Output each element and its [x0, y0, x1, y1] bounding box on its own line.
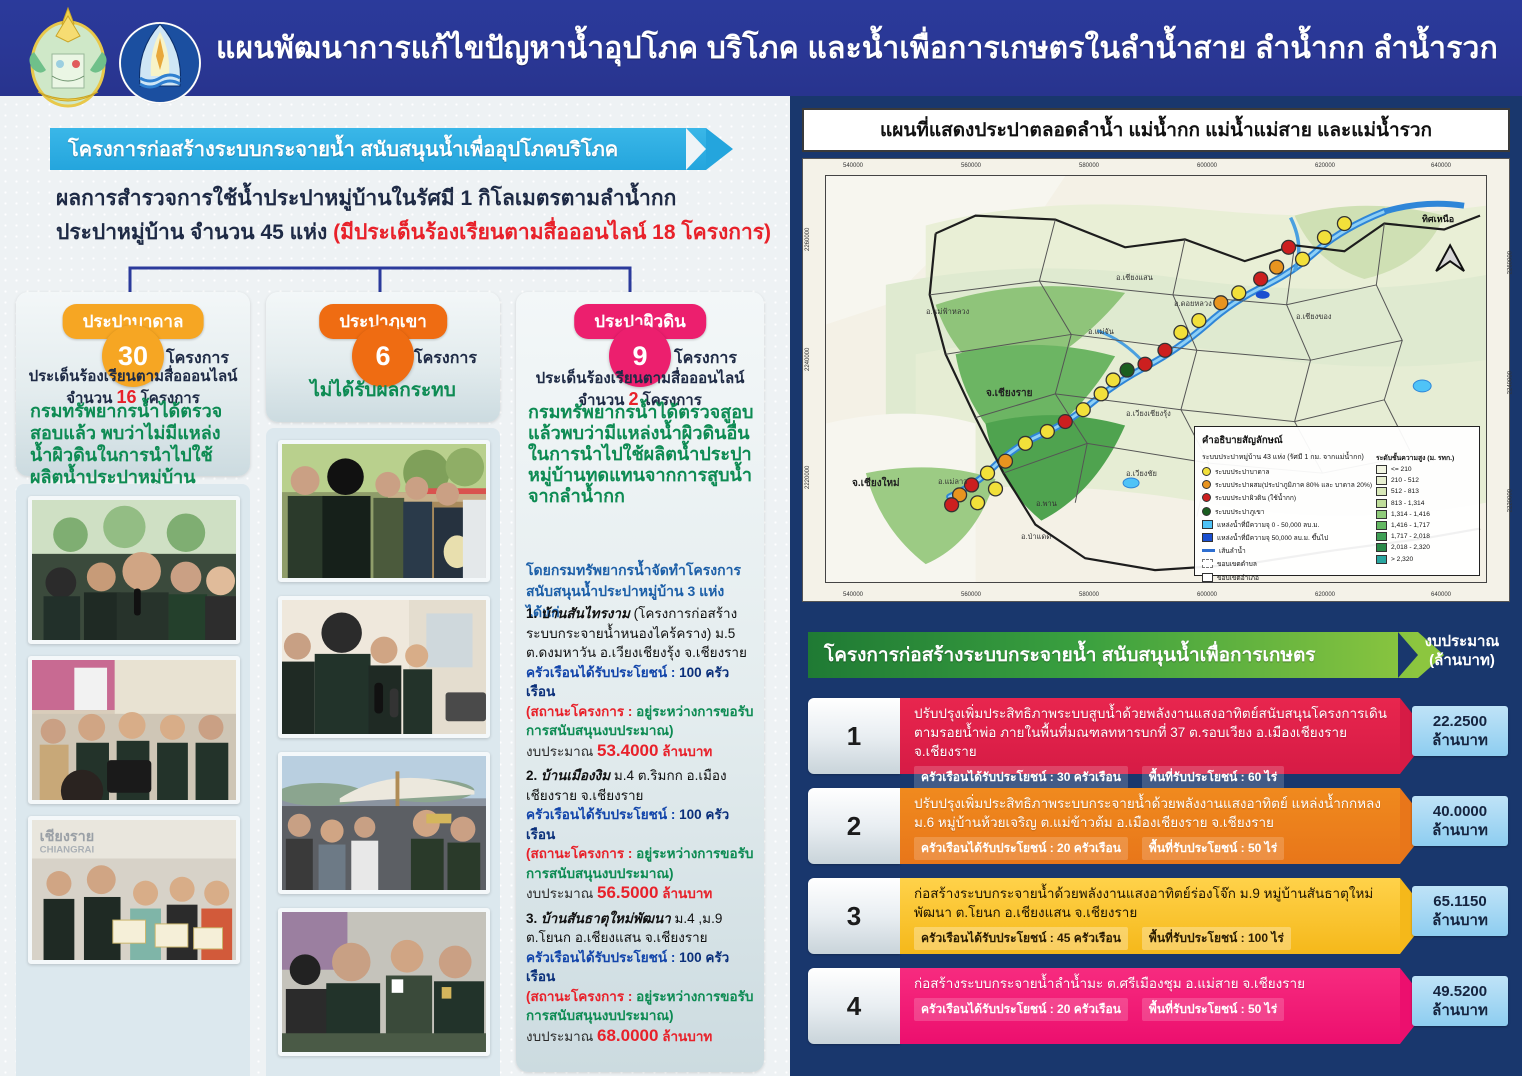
photo-outdoor-tent-crowd — [278, 752, 490, 894]
elevation-swatch-icon — [1376, 543, 1387, 552]
elevation-label: 813 - 1,314 — [1391, 500, 1424, 507]
project-2-households: ครัวเรือนได้รับประโยชน์ : 100 ครัวเรือน — [526, 805, 758, 844]
legend-elevation-item: <= 210 — [1376, 465, 1472, 474]
legend-elevation-item: 813 - 1,314 — [1376, 499, 1472, 508]
budget-column-header-line2: (ล้านบาท) — [1429, 652, 1495, 669]
legend-item: ระบบประปาผิวดิน (ใช้น้ำกก) — [1202, 492, 1370, 503]
agriculture-project-row[interactable]: 4 ก่อสร้างระบบกระจายน้ำลำน้ำมะ ต.ศรีเมือ… — [808, 964, 1508, 1048]
legend-item: ระบบประปาผสม(ประปาภูมิภาค 80% และ บาดาล … — [1202, 479, 1370, 490]
elevation-label: 1,717 - 2,018 — [1391, 533, 1430, 540]
legend-elevation-item: 210 - 512 — [1376, 476, 1472, 485]
row-2-number: 2 — [808, 788, 900, 864]
row-1-budget-value: 22.2500 — [1433, 713, 1487, 730]
survey-result-line-2: ประปาหมู่บ้าน จำนวน 45 แห่ง (มีประเด็นร้… — [56, 216, 771, 249]
map-y-tick: 2260000 — [805, 228, 811, 251]
card-2-count-circle: 6 — [352, 325, 414, 387]
elevation-label: 210 - 512 — [1391, 477, 1419, 484]
survey-complaint-text: (มีประเด็นร้องเรียนตามสื่อออนไลน์ 18 โคร… — [333, 221, 771, 244]
map-place-label: จ.เชียงใหม่ — [852, 476, 900, 491]
legend-item-label: แหล่งน้ำที่มีความจุ 0 - 50,000 ลบ.ม. — [1217, 519, 1319, 530]
row-2-budget: 40.0000 ล้านบาท — [1412, 796, 1508, 846]
row-1-description: ปรับปรุงเพิ่มประสิทธิภาพระบบสูบน้ำด้วยพล… — [914, 704, 1390, 761]
elevation-swatch-icon — [1376, 555, 1387, 564]
elevation-swatch-icon — [1376, 487, 1387, 496]
project-2-number: 2. — [526, 768, 537, 783]
compass-north-label: ทิศเหนือ — [1422, 212, 1454, 226]
map-title: แผนที่แสดงประปาตลอดลำน้ำ แม่น้ำกก แม่น้ำ… — [880, 115, 1432, 145]
legend-elevation-item: 1,717 - 2,018 — [1376, 532, 1472, 541]
map-x-tick: 600000 — [1197, 592, 1217, 598]
map-place-label: อ.เชียงของ — [1296, 311, 1332, 323]
card-3-complaint-line1: ประเด็นร้องเรียนตามสื่อออนไลน์ — [536, 370, 745, 387]
row-4-budget: 49.5200 ล้านบาท — [1412, 976, 1508, 1026]
row-4-number: 4 — [808, 968, 900, 1044]
svg-text:เชียงราย: เชียงราย — [40, 828, 95, 845]
map-place-label: อ.แม่ลาว — [938, 476, 967, 488]
elevation-swatch-icon — [1376, 532, 1387, 541]
legend-item: ขอบเขตตำบล — [1202, 558, 1370, 569]
legend-elevation-item: 1,416 - 1,717 — [1376, 521, 1472, 530]
elevation-swatch-icon — [1376, 499, 1387, 508]
card-3-project-list: 1. บ้านสันไทรงาม (โครงการก่อสร้างระบบกระ… — [526, 604, 758, 1051]
project-3-number: 3. — [526, 911, 537, 926]
map-y-tick: 2220000 — [1507, 489, 1513, 512]
map-x-tick: 600000 — [1197, 163, 1217, 169]
map-y-tick: 2240000 — [1507, 371, 1513, 394]
map-title-box: แผนที่แสดงประปาตลอดลำน้ำ แม่น้ำกก แม่น้ำ… — [802, 108, 1510, 152]
row-3-body: ก่อสร้างระบบกระจายน้ำด้วยพลังงานแสงอาทิต… — [900, 878, 1400, 954]
legend-item: แหล่งน้ำที่มีความจุ 50,000 ลบ.ม. ขึ้นไป — [1202, 532, 1370, 543]
agriculture-panel: โครงการก่อสร้างระบบกระจายน้ำ สนับสนุนน้ำ… — [790, 616, 1522, 1076]
row-1-budget-unit: ล้านบาท — [1432, 732, 1488, 749]
photo-officials-seated-meeting — [278, 908, 490, 1056]
elevation-label: 2,018 - 2,320 — [1391, 544, 1430, 551]
legend-item-label: ระบบประปาภูเขา — [1215, 506, 1264, 517]
legend-title: คำอธิบายสัญลักษณ์ — [1202, 433, 1472, 448]
project-2-status-label: (สถานะโครงการ : — [526, 846, 636, 861]
row-2-stats: ครัวเรือนได้รับประโยชน์ : 20 ครัวเรือน พ… — [914, 837, 1390, 860]
row-3-stats: ครัวเรือนได้รับประโยชน์ : 45 ครัวเรือน พ… — [914, 927, 1390, 950]
row-3-households: ครัวเรือนได้รับประโยชน์ : 45 ครัวเรือน — [914, 927, 1128, 950]
project-list-item: 1. บ้านสันไทรงาม (โครงการก่อสร้างระบบกระ… — [526, 604, 758, 761]
row-2-body: ปรับปรุงเพิ่มประสิทธิภาพระบบกระจายน้ำด้ว… — [900, 788, 1400, 864]
project-3-households: ครัวเรือนได้รับประโยชน์ : 100 ครัวเรือน — [526, 948, 758, 987]
legend-item-label: ระบบประปาผิวดิน (ใช้น้ำกก) — [1215, 492, 1296, 503]
card-1-complaint-line1: ประเด็นร้องเรียนตามสื่อออนไลน์ — [29, 368, 238, 385]
agriculture-project-row[interactable]: 3 ก่อสร้างระบบกระจายน้ำด้วยพลังงานแสงอาท… — [808, 874, 1508, 958]
map-x-tick: 580000 — [1079, 592, 1099, 598]
row-4-budget-value: 49.5200 — [1433, 983, 1487, 1000]
survey-count-text: ประปาหมู่บ้าน จำนวน 45 แห่ง — [56, 221, 333, 244]
row-2-households: ครัวเรือนได้รับประโยชน์ : 20 ครัวเรือน — [914, 837, 1128, 860]
legend-item-label: ระบบประปาบาดาล — [1215, 466, 1270, 477]
svg-text:CHIANGRAI: CHIANGRAI — [40, 845, 95, 856]
map-place-label: อ.เวียงเชียงรุ้ง — [1126, 408, 1171, 420]
elevation-swatch-icon — [1376, 465, 1387, 474]
legend-elevation-item: 2,018 - 2,320 — [1376, 543, 1472, 552]
card-mountain-supply: ประปาภูเขา 6 โครงการ ไม่ได้รับผลกระทบ — [266, 292, 500, 422]
elevation-swatch-icon — [1376, 510, 1387, 519]
agriculture-header-notch — [1398, 632, 1418, 678]
map-x-tick: 640000 — [1431, 163, 1451, 169]
legend-item-label: ขอบเขตอำเภอ — [1217, 572, 1259, 583]
project-1-households: ครัวเรือนได้รับประโยชน์ : 100 ครัวเรือน — [526, 663, 758, 702]
photo-water-sample-riverside — [278, 440, 490, 582]
map-x-tick: 620000 — [1315, 163, 1335, 169]
legend-surface-water-dot-icon — [1202, 493, 1211, 502]
project-2-households-label: ครัวเรือนได้รับประโยชน์ : — [526, 807, 679, 822]
photo-press-conference-group — [28, 656, 240, 804]
legend-elevation-column: ระดับชั้นความสูง (ม. รทก.) <= 210 210 - … — [1376, 452, 1472, 583]
project-3-status-label: (สถานะโครงการ : — [526, 989, 636, 1004]
card-2-count-unit: โครงการ — [414, 346, 477, 371]
project-1-households-label: ครัวเรือนได้รับประโยชน์ : — [526, 665, 679, 680]
legend-elevation-item: 512 - 813 — [1376, 487, 1472, 496]
project-1-status-label: (สถานะโครงการ : — [526, 704, 636, 719]
row-1-number: 1 — [808, 698, 900, 774]
page-header: แผนพัฒนาการแก้ไขปัญหาน้ำอุปโภค บริโภค แล… — [0, 0, 1522, 96]
row-4-budget-unit: ล้านบาท — [1432, 1002, 1488, 1019]
map-x-tick: 540000 — [843, 163, 863, 169]
row-1-budget: 22.2500 ล้านบาท — [1412, 706, 1508, 756]
project-3-name: บ้านสันธาตุใหม่พัฒนา — [541, 911, 671, 926]
legend-item-label: แหล่งน้ำที่มีความจุ 50,000 ลบ.ม. ขึ้นไป — [1217, 532, 1328, 543]
row-3-budget: 65.1150 ล้านบาท — [1412, 886, 1508, 936]
elevation-swatch-icon — [1376, 521, 1387, 530]
project-2-budget-value: 56.5000 — [597, 883, 658, 902]
row-1-body: ปรับปรุงเพิ่มประสิทธิภาพระบบสูบน้ำด้วยพล… — [900, 698, 1400, 774]
agriculture-project-row[interactable]: 2 ปรับปรุงเพิ่มประสิทธิภาพระบบกระจายน้ำด… — [808, 784, 1508, 868]
project-3-budget-value: 68.0000 — [597, 1026, 658, 1045]
map-place-label: จ.เชียงราย — [986, 386, 1032, 401]
project-3-budget-unit: ล้านบาท — [658, 1029, 712, 1044]
map-place-label: อ.พาน — [1036, 498, 1057, 510]
row-3-number: 3 — [808, 878, 900, 954]
project-1-status: (สถานะโครงการ : อยู่ระหว่างการขอรับการสน… — [526, 702, 758, 741]
row-3-description: ก่อสร้างระบบกระจายน้ำด้วยพลังงานแสงอาทิต… — [914, 884, 1390, 922]
project-3-status: (สถานะโครงการ : อยู่ระหว่างการขอรับการสน… — [526, 987, 758, 1026]
project-1-budget-unit: ล้านบาท — [658, 744, 712, 759]
elevation-label: 1,416 - 1,717 — [1391, 522, 1430, 529]
page-title: แผนพัฒนาการแก้ไขปัญหาน้ำอุปโภค บริโภค แล… — [216, 30, 1496, 68]
project-1-budget-value: 53.4000 — [597, 741, 658, 760]
photo-certificate-handover-chiangrai: เชียงราย CHIANGRAI — [28, 816, 240, 964]
legend-item: แหล่งน้ำที่มีความจุ 0 - 50,000 ลบ.ม. — [1202, 519, 1370, 530]
row-4-area: พื้นที่รับประโยชน์ : 50 ไร่ — [1142, 998, 1284, 1021]
card-1-finding-note: กรมทรัพยากรน้ำได้ตรวจสอบแล้ว พบว่าไม่มีแ… — [30, 400, 242, 488]
row-4-households: ครัวเรือนได้รับประโยชน์ : 20 ครัวเรือน — [914, 998, 1128, 1021]
map-place-label: อ.แม่จัน — [1088, 326, 1114, 338]
legend-elevation-item: > 2,320 — [1376, 555, 1472, 564]
project-3-budget: งบประมาณ 68.0000 ล้านบาท — [526, 1026, 758, 1047]
map-y-tick: 2240000 — [805, 348, 811, 371]
card-2-finding-note: ไม่ได้รับผลกระทบ — [266, 380, 500, 402]
project-1-name: บ้านสันไทรงาม — [541, 606, 630, 621]
legend-elevation-title: ระดับชั้นความสูง (ม. รทก.) — [1376, 452, 1472, 463]
domestic-water-section-ribbon: โครงการก่อสร้างระบบกระจายน้ำ สนับสนุนน้ำ… — [50, 128, 706, 170]
map-frame[interactable]: 540000 560000 580000 600000 620000 64000… — [802, 158, 1510, 602]
legend-item-label: ระบบประปาผสม(ประปาภูมิภาค 80% และ บาดาล … — [1215, 479, 1372, 490]
department-of-water-resources-emblem-icon — [118, 14, 202, 112]
legend-district-boundary-icon — [1202, 573, 1213, 582]
project-2-budget: งบประมาณ 56.5000 ล้านบาท — [526, 883, 758, 904]
legend-groundwater-dot-icon — [1202, 467, 1211, 476]
map-y-tick: 2220000 — [805, 466, 811, 489]
map-x-tick: 640000 — [1431, 592, 1451, 598]
legend-item: ระบบประปาบาดาล — [1202, 466, 1370, 477]
elevation-swatch-icon — [1376, 476, 1387, 485]
row-4-body: ก่อสร้างระบบกระจายน้ำลำน้ำมะ ต.ศรีเมืองช… — [900, 968, 1400, 1044]
project-2-budget-label: งบประมาณ — [526, 886, 597, 901]
project-2-budget-unit: ล้านบาท — [658, 886, 712, 901]
map-place-label: อ.ป่าแดด — [1021, 531, 1051, 543]
legend-subtitle: ระบบประปาหมู่บ้าน 43 แห่ง (รัศมี 1 กม. จ… — [1202, 452, 1370, 463]
elevation-label: 512 - 813 — [1391, 488, 1419, 495]
map-x-tick: 540000 — [843, 592, 863, 598]
legend-subdistrict-boundary-icon — [1202, 559, 1213, 568]
agriculture-project-row[interactable]: 1 ปรับปรุงเพิ่มประสิทธิภาพระบบสูบน้ำด้วย… — [808, 694, 1508, 778]
row-2-budget-unit: ล้านบาท — [1432, 822, 1488, 839]
row-3-budget-value: 65.1150 — [1433, 893, 1486, 910]
row-3-area: พื้นที่รับประโยชน์ : 100 ไร่ — [1142, 927, 1291, 950]
project-2-name: บ้านเมืองงิม — [541, 768, 610, 783]
map-legend: คำอธิบายสัญลักษณ์ ระบบประปาหมู่บ้าน 43 แ… — [1194, 426, 1480, 576]
card-groundwater-supply: ประปาบาดาล 30 โครงการ ประเด็นร้องเรียนตา… — [16, 292, 250, 476]
elevation-label: <= 210 — [1391, 466, 1412, 473]
legend-river-line-icon — [1202, 549, 1215, 552]
budget-column-header: งบประมาณ (ล้านบาท) — [1416, 632, 1508, 670]
agriculture-section-label: โครงการก่อสร้างระบบกระจายน้ำ สนับสนุนน้ำ… — [808, 640, 1316, 670]
map-panel: แผนที่แสดงประปาตลอดลำน้ำ แม่น้ำกก แม่น้ำ… — [790, 96, 1522, 616]
garuda-royal-emblem-icon — [22, 2, 114, 114]
legend-item-label: ขอบเขตตำบล — [1217, 558, 1257, 569]
card-surface-water-supply: ประปาผิวดิน 9 โครงการ ประเด็นร้องเรียนตา… — [516, 292, 764, 1072]
project-1-budget: งบประมาณ 53.4000 ล้านบาท — [526, 741, 758, 762]
map-place-label: อ.ดอยหลวง — [1174, 298, 1212, 310]
legend-symbols-column: ระบบประปาหมู่บ้าน 43 แห่ง (รัศมี 1 กม. จ… — [1202, 452, 1370, 583]
map-x-tick: 580000 — [1079, 163, 1099, 169]
elevation-label: 1,314 - 1,416 — [1391, 511, 1430, 518]
legend-item: ระบบประปาภูเขา — [1202, 506, 1370, 517]
photo-official-speaking-microphone — [28, 496, 240, 644]
legend-item: ขอบเขตอำเภอ — [1202, 572, 1370, 583]
row-2-description: ปรับปรุงเพิ่มประสิทธิภาพระบบกระจายน้ำด้ว… — [914, 794, 1390, 832]
legend-large-reservoir-swatch-icon — [1202, 533, 1213, 542]
map-x-tick: 560000 — [961, 592, 981, 598]
budget-column-header-line1: งบประมาณ — [1425, 633, 1500, 650]
domestic-water-section-label: โครงการก่อสร้างระบบกระจายน้ำ สนับสนุนน้ำ… — [50, 133, 618, 165]
legend-item-label: เส้นลำน้ำ — [1219, 545, 1246, 556]
agriculture-section-header: โครงการก่อสร้างระบบกระจายน้ำ สนับสนุนน้ำ… — [808, 632, 1418, 678]
project-list-item: 2. บ้านเมืองงิม ม.4 ต.ริมกก อ.เมืองเชียง… — [526, 766, 758, 904]
map-y-tick: 2260000 — [1507, 251, 1513, 274]
elevation-label: > 2,320 — [1391, 556, 1413, 563]
survey-result-line-1: ผลการสำรวจการใช้น้ำประปาหมู่บ้านในรัศมี … — [56, 182, 676, 215]
map-x-tick: 620000 — [1315, 592, 1335, 598]
legend-item: เส้นลำน้ำ — [1202, 545, 1370, 556]
legend-small-reservoir-swatch-icon — [1202, 520, 1213, 529]
row-4-description: ก่อสร้างระบบกระจายน้ำลำน้ำมะ ต.ศรีเมืองช… — [914, 974, 1390, 993]
card-3-finding-note: กรมทรัพยากรน้ำได้ตรวจสูอบแล้วพบว่ามีแหล่… — [528, 402, 754, 507]
map-canvas[interactable]: จ.เชียงราย จ.เชียงใหม่ อ.แม่ฟ้าหลวง อ.เช… — [825, 175, 1487, 583]
row-4-stats: ครัวเรือนได้รับประโยชน์ : 20 ครัวเรือน พ… — [914, 998, 1390, 1021]
map-place-label: อ.แม่ฟ้าหลวง — [926, 306, 969, 318]
row-2-budget-value: 40.0000 — [1433, 803, 1487, 820]
project-2-status: (สถานะโครงการ : อยู่ระหว่างการขอรับการสน… — [526, 844, 758, 883]
project-list-item: 3. บ้านสันธาตุใหม่พัฒนา ม.4 ,ม.9 ต.โยนก … — [526, 909, 758, 1047]
project-3-budget-label: งบประมาณ — [526, 1029, 597, 1044]
left-panel: โครงการก่อสร้างระบบกระจายน้ำ สนับสนุนน้ำ… — [0, 96, 790, 1076]
photo-officials-indoor-interview — [278, 596, 490, 738]
bracket-connector — [120, 258, 640, 292]
legend-mountain-supply-dot-icon — [1202, 507, 1211, 516]
map-place-label: อ.เชียงแสน — [1116, 272, 1153, 284]
map-x-tick: 560000 — [961, 163, 981, 169]
legend-elevation-item: 1,314 - 1,416 — [1376, 510, 1472, 519]
row-2-area: พื้นที่รับประโยชน์ : 50 ไร่ — [1142, 837, 1284, 860]
project-1-number: 1. — [526, 606, 537, 621]
map-place-label: อ.เวียงชัย — [1126, 468, 1157, 480]
project-3-households-label: ครัวเรือนได้รับประโยชน์ : — [526, 950, 679, 965]
legend-mixed-supply-dot-icon — [1202, 480, 1211, 489]
ribbon-notch — [686, 128, 706, 170]
project-1-budget-label: งบประมาณ — [526, 744, 597, 759]
row-3-budget-unit: ล้านบาท — [1432, 912, 1488, 929]
